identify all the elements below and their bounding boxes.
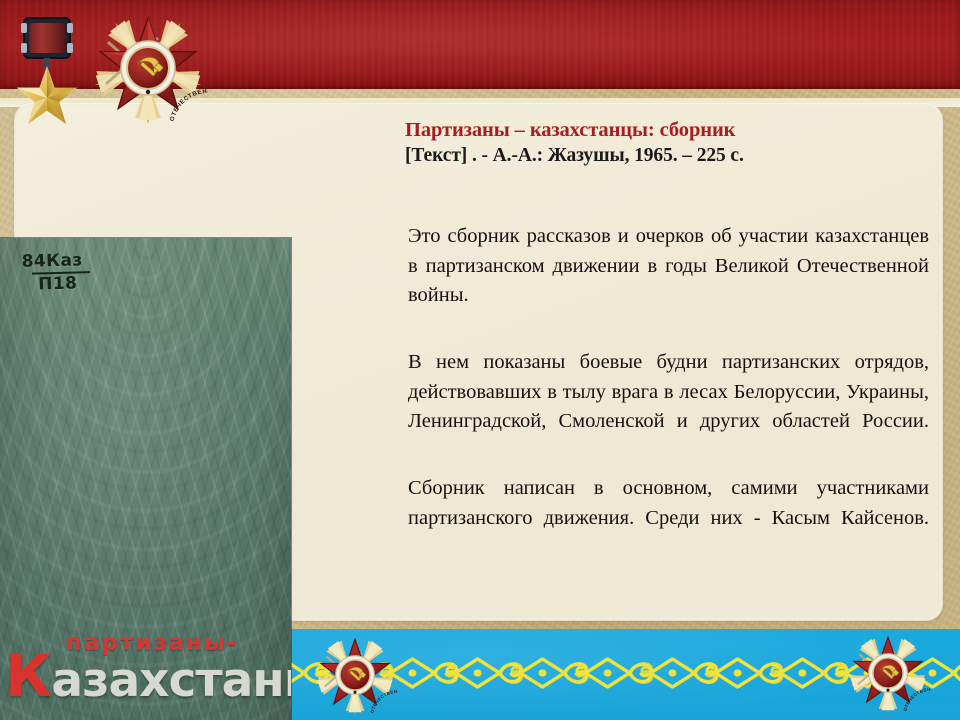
gold-star-hero-medal-icon (12, 14, 94, 130)
call-number-class: 84Каз (21, 250, 82, 272)
presentation-slide: Партизаны – казахстанцы: сборник [Текст]… (0, 0, 960, 720)
annotation-paragraph: В нем показаны боевые будни партизанских… (366, 348, 929, 466)
bibliographic-title-block: Партизаны – казахстанцы: сборник [Текст]… (405, 118, 925, 168)
order-of-the-patriotic-war-medal-icon: ОТЕЧЕСТВЕННАЯ ВОЙНА (845, 630, 931, 716)
cover-main-title: Казахстанцы (5, 650, 291, 707)
book-cover-image: 84Каз П18 партизаны- Казахстанцы (0, 238, 291, 720)
cover-title-initial: К (5, 642, 51, 710)
book-title: Партизаны – казахстанцы: сборник (405, 118, 925, 143)
annotation-text-block: Это сборник рассказов и очерков об участ… (366, 222, 929, 563)
order-of-the-patriotic-war-medal-icon: ОТЕЧЕСТВЕННАЯ ВОЙНА (88, 8, 208, 128)
library-call-number: 84Каз П18 (21, 251, 90, 295)
call-number-author-mark: П18 (38, 274, 90, 294)
book-imprint: [Текст] . - А.-А.: Жазушы, 1965. – 225 с… (405, 143, 925, 168)
cover-title-rest: азахстанцы (51, 653, 291, 708)
annotation-paragraph: Это сборник рассказов и очерков об участ… (366, 222, 929, 340)
order-of-the-patriotic-war-medal-icon: ОТЕЧЕСТВЕННАЯ ВОЙНА (312, 632, 398, 718)
annotation-paragraph: Сборник написан в основном, самими участ… (366, 474, 929, 563)
